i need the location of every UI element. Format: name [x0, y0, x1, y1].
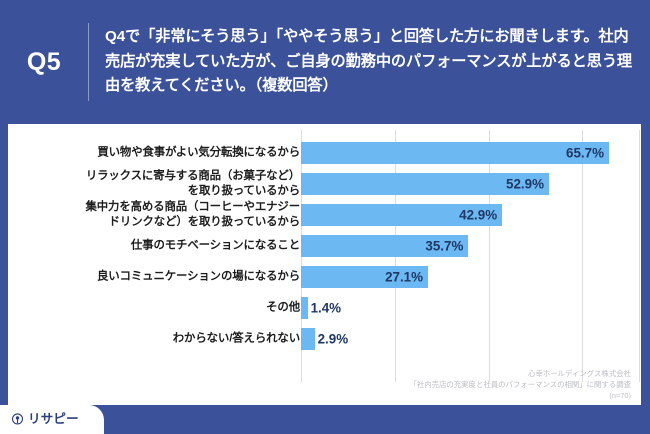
credits-survey-title: 「社内売店の充実度と社員のパフォーマンスの相関」に関する調査	[409, 379, 631, 390]
question-header: Q5 Q4で「非常にそう思う」「ややそう思う」と回答した方にお聞きします。社内売…	[0, 0, 650, 124]
bar-value-label: 52.9%	[506, 177, 544, 192]
chart-row: その他1.4%	[8, 297, 641, 319]
category-label: 集中力を高める商品（コーヒーやエナジー ドリンクなど）を取り扱っているから	[85, 200, 300, 230]
bar-track: 35.7%	[301, 235, 641, 257]
chart-row: わからない/答えられない2.9%	[8, 328, 641, 350]
bar: 35.7%	[301, 235, 468, 257]
brand-logo-text: リサピー	[28, 413, 79, 426]
chart-row: リラックスに寄与する商品（お菓子など） を取り扱っているから52.9%	[8, 173, 641, 195]
bar-track: 2.9%	[301, 328, 641, 350]
location-pin-icon	[11, 413, 24, 426]
bar: 52.9%	[301, 173, 549, 195]
bar: 65.7%	[301, 142, 609, 164]
bar-value-label: 2.9%	[318, 332, 349, 347]
question-text: Q4で「非常にそう思う」「ややそう思う」と回答した方にお聞きします。社内売店が充…	[89, 25, 636, 99]
bar-track: 1.4%	[301, 297, 641, 319]
question-number: Q5	[0, 50, 88, 75]
bar-value-label: 1.4%	[311, 301, 342, 316]
bar-track: 42.9%	[301, 204, 641, 226]
category-label: リラックスに寄与する商品（お菓子など） を取り扱っているから	[86, 169, 300, 199]
chart-row: 良いコミュニケーションの場になるから27.1%	[8, 266, 641, 288]
bar-value-label: 42.9%	[459, 208, 497, 223]
chart-card: 買い物や食事がよい気分転換になるから65.7%リラックスに寄与する商品（お菓子な…	[8, 124, 641, 405]
bar-value-label: 65.7%	[566, 146, 604, 161]
bar-track: 65.7%	[301, 142, 641, 164]
credits-sample-size: (n=70)	[409, 390, 631, 401]
chart-row: 買い物や食事がよい気分転換になるから65.7%	[8, 142, 641, 164]
bar-value-label: 27.1%	[385, 270, 423, 285]
bar-value-label: 35.7%	[425, 239, 463, 254]
category-label: その他	[266, 300, 300, 315]
category-label: 良いコミュニケーションの場になるから	[97, 269, 300, 284]
bar	[301, 328, 315, 350]
brand-logo[interactable]: リサピー	[0, 405, 104, 434]
chart-row: 仕事のモチベーションになること35.7%	[8, 235, 641, 257]
chart-rows: 買い物や食事がよい気分転換になるから65.7%リラックスに寄与する商品（お菓子な…	[8, 142, 641, 359]
bar: 42.9%	[301, 204, 502, 226]
category-label: わからない/答えられない	[173, 331, 300, 346]
footer: リサピー	[0, 405, 650, 434]
chart-row: 集中力を高める商品（コーヒーやエナジー ドリンクなど）を取り扱っているから42.…	[8, 204, 641, 226]
bar	[301, 297, 308, 319]
chart-credits: 心幸ホールディングス株式会社 「社内売店の充実度と社員のパフォーマンスの相関」に…	[409, 368, 631, 401]
bar-track: 27.1%	[301, 266, 641, 288]
horizontal-bar-chart: 買い物や食事がよい気分転換になるから65.7%リラックスに寄与する商品（お菓子な…	[8, 124, 641, 405]
category-label: 仕事のモチベーションになること	[131, 238, 300, 253]
credits-company: 心幸ホールディングス株式会社	[409, 368, 631, 379]
category-label: 買い物や食事がよい気分転換になるから	[97, 145, 300, 160]
bar: 27.1%	[301, 266, 428, 288]
bar-track: 52.9%	[301, 173, 641, 195]
